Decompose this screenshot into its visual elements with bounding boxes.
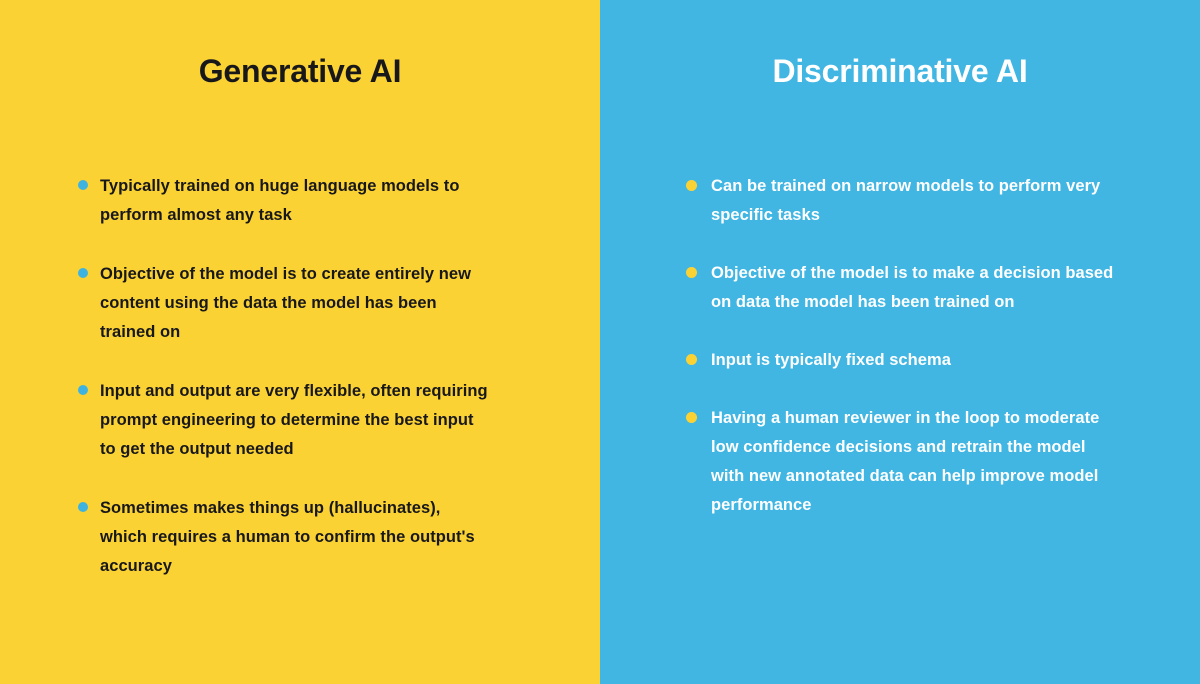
yellow-dot-bullet-icon [686, 412, 697, 423]
list-item: Having a human reviewer in the loop to m… [686, 404, 1116, 520]
yellow-dot-bullet-icon [686, 267, 697, 278]
blue-dot-bullet-icon [78, 180, 88, 190]
list-item-label: Input is typically fixed schema [711, 346, 951, 375]
list-item-label: Input and output are very flexible, ofte… [100, 377, 492, 464]
yellow-dot-bullet-icon [686, 354, 697, 365]
list-item: Sometimes makes things up (hallucinates)… [78, 494, 498, 581]
bullet-list-generative-ai: Typically trained on huge language model… [78, 172, 498, 611]
list-item: Objective of the model is to make a deci… [686, 259, 1116, 317]
list-item: Input and output are very flexible, ofte… [78, 377, 498, 464]
panel-title-generative-ai: Generative AI [0, 55, 600, 87]
yellow-dot-bullet-icon [686, 180, 697, 191]
blue-dot-bullet-icon [78, 385, 88, 395]
list-item-label: Can be trained on narrow models to perfo… [711, 172, 1116, 230]
list-item-label: Typically trained on huge language model… [100, 172, 492, 230]
list-item-label: Sometimes makes things up (hallucinates)… [100, 494, 492, 581]
panel-title-discriminative-ai: Discriminative AI [600, 55, 1200, 87]
list-item: Input is typically fixed schema [686, 346, 1116, 375]
list-item-label: Objective of the model is to make a deci… [711, 259, 1116, 317]
list-item-label: Objective of the model is to create enti… [100, 260, 492, 347]
list-item: Can be trained on narrow models to perfo… [686, 172, 1116, 230]
blue-dot-bullet-icon [78, 502, 88, 512]
bullet-list-discriminative-ai: Can be trained on narrow models to perfo… [686, 172, 1116, 549]
panel-generative-ai: Generative AI Typically trained on huge … [0, 0, 600, 684]
list-item: Typically trained on huge language model… [78, 172, 498, 230]
list-item-label: Having a human reviewer in the loop to m… [711, 404, 1116, 520]
comparison-layout: Generative AI Typically trained on huge … [0, 0, 1200, 684]
blue-dot-bullet-icon [78, 268, 88, 278]
list-item: Objective of the model is to create enti… [78, 260, 498, 347]
panel-discriminative-ai: Discriminative AI Can be trained on narr… [600, 0, 1200, 684]
